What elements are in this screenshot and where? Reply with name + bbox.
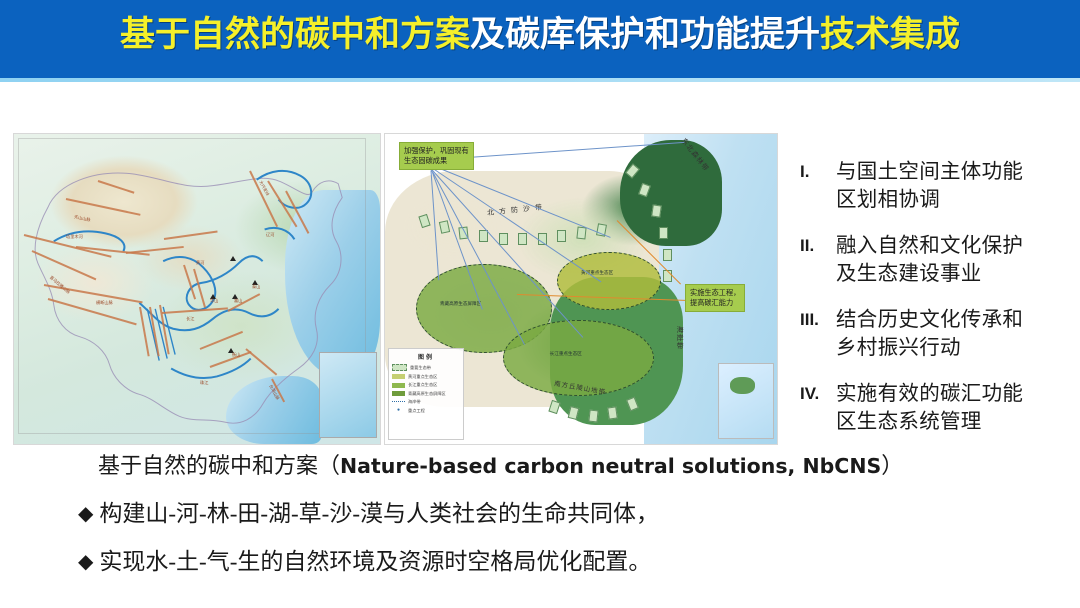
list-item-2: II. 融入自然和文化保护 及生态建设事业 <box>800 232 1072 288</box>
list-text-2-line2: 及生态建设事业 <box>836 260 1023 288</box>
title-part-3: 技术集成 <box>820 15 960 55</box>
caption-cn-suffix: ） <box>881 453 903 478</box>
belt-segment <box>576 227 586 240</box>
legend-item: 海岸带 <box>392 399 460 405</box>
caption-line: 基于自然的碳中和方案（Nature-based carbon neutral s… <box>98 450 903 482</box>
belt-segment <box>557 230 566 242</box>
map-graticule <box>18 138 366 434</box>
page-title: 基于自然的碳中和方案及碳库保护和功能提升技术集成 <box>0 12 1080 58</box>
legend-label: 长江重点生态区 <box>408 382 437 388</box>
legend-label: 海岸带 <box>408 399 421 405</box>
legend-item: 重要生态带 <box>392 364 460 371</box>
belt-segment <box>663 249 672 261</box>
belt-segment <box>518 233 527 245</box>
header-accent-line <box>0 78 1080 82</box>
bullet-line-2: ◆实现水-土-气-生的自然环境及资源时空格局优化配置。 <box>78 545 651 579</box>
list-marker-1: I. <box>800 158 836 186</box>
list-text-4: 实施有效的碳汇功能 区生态系统管理 <box>836 380 1023 436</box>
list-text-3-line1: 结合历史文化传承和 <box>836 306 1023 334</box>
legend-label: 黄河重点生态区 <box>408 374 437 380</box>
list-item-3: III. 结合历史文化传承和 乡村振兴行动 <box>800 306 1072 362</box>
title-part-2: 及碳库保护和功能提升 <box>470 15 820 55</box>
inset-island <box>730 377 755 393</box>
legend-label: 青藏高原生态屏障区 <box>408 391 446 397</box>
list-text-3: 结合历史文化传承和 乡村振兴行动 <box>836 306 1023 362</box>
legend-swatch <box>392 374 405 379</box>
legend-item: ● 重点工程 <box>392 408 460 414</box>
caption-cn-prefix: 基于自然的碳中和方案（ <box>98 453 340 478</box>
legend-item: 青藏高原生态屏障区 <box>392 391 460 397</box>
list-text-4-line1: 实施有效的碳汇功能 <box>836 380 1023 408</box>
bullet-marker-icon: ◆ <box>78 551 93 573</box>
caption-en-term: Nature-based carbon neutral solutions, N… <box>340 454 881 478</box>
eco-zone-label-tibetan: 青藏高原生态屏障区 <box>440 301 481 307</box>
roman-numeral-list: I. 与国土空间主体功能 区划相协调 II. 融入自然和文化保护 及生态建设事业… <box>800 158 1072 454</box>
northeast-forest-mass <box>620 140 722 245</box>
list-marker-3: III. <box>800 306 836 334</box>
eco-zone-yellow-river <box>557 252 661 310</box>
bullet-text-1: 构建山-河-林-田-湖-草-沙-漠与人类社会的生命共同体， <box>99 501 659 526</box>
callout-protect: 加强保护，巩固现有 生态固碳成果 <box>399 142 474 170</box>
legend-label: 重要生态带 <box>410 365 431 371</box>
belt-segment <box>588 409 598 422</box>
legend-swatch <box>392 364 407 371</box>
list-text-2: 融入自然和文化保护 及生态建设事业 <box>836 232 1023 288</box>
china-physical-terrain-map: 天山山脉 塔里木河 黄河 长江 辽河 珠江 泰山 华山 嵩山 衡山 喜马拉雅山脉… <box>13 133 381 445</box>
list-text-2-line1: 融入自然和文化保护 <box>836 232 1023 260</box>
legend-title: 图例 <box>392 352 460 361</box>
list-text-1-line1: 与国土空间主体功能 <box>836 158 1023 186</box>
legend-swatch: ● <box>392 408 405 413</box>
legend-swatch <box>392 391 405 396</box>
belt-segment <box>499 233 508 245</box>
belt-segment <box>651 205 662 218</box>
list-marker-4: IV. <box>800 380 836 408</box>
list-marker-2: II. <box>800 232 836 260</box>
bullet-line-1: ◆构建山-河-林-田-湖-草-沙-漠与人类社会的生命共同体， <box>78 497 659 531</box>
bullet-marker-icon: ◆ <box>78 503 93 525</box>
eco-zone-label-yangtze: 长江重点生态区 <box>550 351 582 357</box>
legend-item: 长江重点生态区 <box>392 382 460 388</box>
list-text-3-line2: 乡村振兴行动 <box>836 334 1023 362</box>
map-legend: 图例 重要生态带 黄河重点生态区 长江重点生态区 青藏高原生态屏障区 海岸带 <box>388 348 464 440</box>
slide-header-bar: 基于自然的碳中和方案及碳库保护和功能提升技术集成 <box>0 0 1080 78</box>
title-part-1: 基于自然的碳中和方案 <box>120 15 470 55</box>
legend-item: 黄河重点生态区 <box>392 374 460 380</box>
belt-segment <box>659 227 668 239</box>
china-ecological-security-pattern-map: 青藏高原生态屏障区 黄河重点生态区 长江重点生态区 北方防沙带 东北森林带 南方… <box>384 133 778 445</box>
bullet-text-2: 实现水-土-气-生的自然环境及资源时空格局优化配置。 <box>99 549 651 574</box>
belt-label-coastal: 海岸带 <box>675 326 685 350</box>
eco-map-inset <box>718 363 774 439</box>
maps-row: 天山山脉 塔里木河 黄河 长江 辽河 珠江 泰山 华山 嵩山 衡山 喜马拉雅山脉… <box>13 133 781 445</box>
legend-label: 重点工程 <box>408 408 425 414</box>
legend-swatch <box>392 383 405 388</box>
list-item-1: I. 与国土空间主体功能 区划相协调 <box>800 158 1072 214</box>
list-item-4: IV. 实施有效的碳汇功能 区生态系统管理 <box>800 380 1072 436</box>
list-text-1: 与国土空间主体功能 区划相协调 <box>836 158 1023 214</box>
map-inset-south-sea <box>319 352 377 438</box>
callout-engineering: 实施生态工程， 提高碳汇能力 <box>685 284 745 312</box>
legend-swatch <box>392 401 405 403</box>
list-text-4-line2: 区生态系统管理 <box>836 408 1023 436</box>
list-text-1-line2: 区划相协调 <box>836 186 1023 214</box>
